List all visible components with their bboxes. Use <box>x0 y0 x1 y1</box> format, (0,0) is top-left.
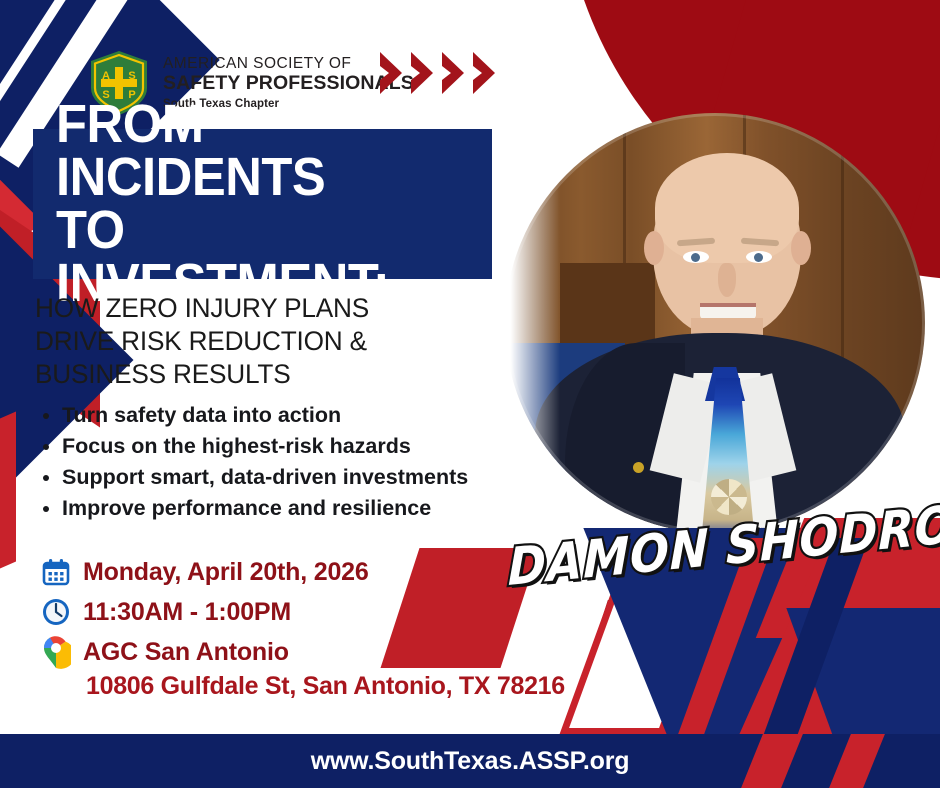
event-flyer: A S S P ® AMERICAN SOCIETY OF SAFETY PRO… <box>0 0 940 788</box>
key-points-list: Turn safety data into action Focus on th… <box>36 400 532 524</box>
logo-line-2: SAFETY PROFESSIONALS <box>163 73 414 94</box>
event-address-row: 10806 Gulfdale St, San Antonio, TX 78216 <box>40 672 640 701</box>
event-time: 11:30AM - 1:00PM <box>83 598 291 627</box>
chevron-right-icon <box>409 50 437 96</box>
event-address: 10806 Gulfdale St, San Antonio, TX 78216 <box>86 672 640 701</box>
speaker-pupil-right <box>754 253 763 262</box>
list-item: Improve performance and resilience <box>62 493 532 524</box>
speaker-photo <box>505 113 925 533</box>
website-url[interactable]: www.SouthTexas.ASSP.org <box>0 747 940 776</box>
map-pin-icon <box>40 636 72 668</box>
event-date: Monday, April 20th, 2026 <box>83 558 369 587</box>
speaker-scalp <box>655 153 799 263</box>
list-item: Turn safety data into action <box>62 400 532 431</box>
title-line-1: FROM INCIDENTS <box>56 98 466 204</box>
speaker-nose <box>718 263 736 297</box>
decor-left-red-edge <box>0 411 16 568</box>
svg-text:A: A <box>102 70 110 82</box>
event-venue: AGC San Antonio <box>83 638 289 667</box>
event-subtitle: HOW ZERO INJURY PLANS DRIVE RISK REDUCTI… <box>35 292 491 392</box>
list-item: Focus on the highest-risk hazards <box>62 431 532 462</box>
speaker-ear-left <box>644 231 664 265</box>
chevron-right-icon <box>378 50 406 96</box>
clock-icon <box>40 596 72 628</box>
svg-text:S: S <box>128 70 135 82</box>
speaker-lapel-pin <box>633 462 644 473</box>
subtitle-line-2: DRIVE RISK REDUCTION & <box>35 325 491 358</box>
chevron-arrows-group <box>378 50 499 96</box>
chevron-right-icon <box>471 50 499 96</box>
logo-line-1: AMERICAN SOCIETY OF <box>163 56 414 72</box>
chevron-right-icon <box>440 50 468 96</box>
speaker-ear-right <box>791 231 811 265</box>
calendar-icon <box>40 556 72 588</box>
speaker-pupil-left <box>691 253 700 262</box>
list-item: Support smart, data-driven investments <box>62 462 532 493</box>
event-time-row: 11:30AM - 1:00PM <box>40 596 640 628</box>
subtitle-line-3: BUSINESS RESULTS <box>35 358 491 391</box>
subtitle-line-1: HOW ZERO INJURY PLANS <box>35 292 491 325</box>
event-title-block: FROM INCIDENTS TO INVESTMENT: <box>33 129 492 279</box>
speaker-tie-star-motif <box>711 479 747 515</box>
event-venue-row: AGC San Antonio <box>40 636 640 668</box>
